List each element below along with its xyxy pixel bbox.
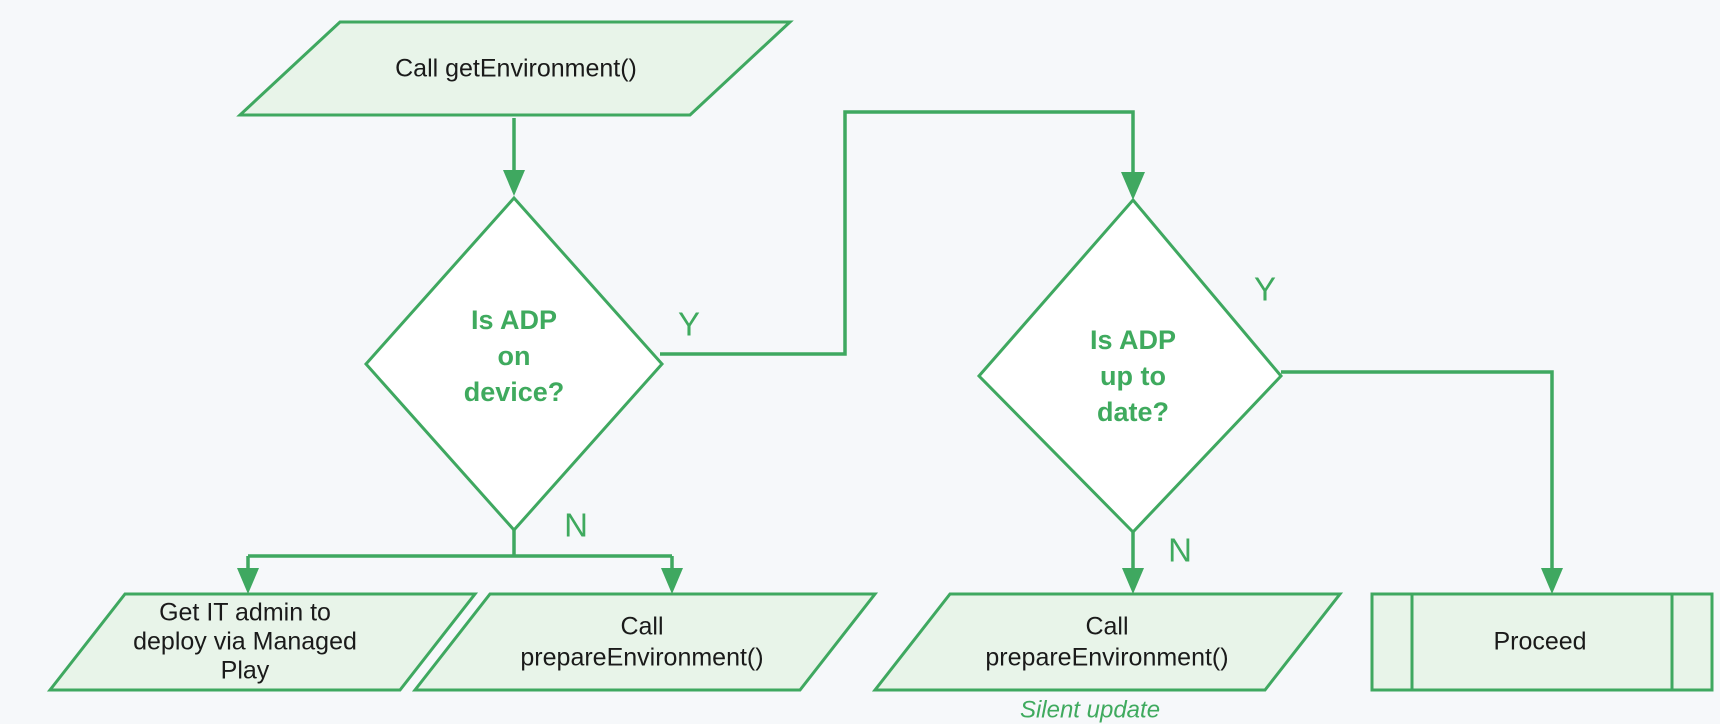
arrowhead-it-admin [237,568,259,594]
prepare-left-label-line1: Call [620,613,663,641]
branch-label-on-device-yes: Y [678,306,700,343]
silent-update-note: Silent update [1020,696,1160,723]
node-is-adp-on-device[interactable]: Is ADP on device? [366,198,662,530]
node-proceed[interactable]: Proceed [1372,594,1712,690]
edge-up-to-date-yes-to-proceed [1281,372,1552,578]
node-is-adp-up-to-date[interactable]: Is ADP up to date? [979,200,1281,532]
arrowhead-prepare-right [1122,568,1144,594]
arrowhead-proceed [1541,568,1563,594]
decision2-label-line2: up to [1100,361,1166,391]
decision-label-line2: on [498,341,531,371]
branch-label-on-device-no: N [564,507,588,544]
branch-label-up-to-date-no: N [1168,532,1192,569]
decision-label-line1: Is ADP [471,305,557,335]
flowchart-canvas: Call getEnvironment() Is ADP on device? … [0,0,1720,724]
flowchart-svg: Call getEnvironment() Is ADP on device? … [0,0,1720,724]
node-call-prepare-environment-left[interactable]: Call prepareEnvironment() [415,594,875,690]
arrowhead-prepare-left [661,568,683,594]
node-get-it-admin-deploy[interactable]: Get IT admin to deploy via Managed Play [50,594,475,690]
node-call-get-environment[interactable]: Call getEnvironment() [240,22,790,115]
branch-label-up-to-date-yes: Y [1254,271,1276,308]
prepare-left-label-line2: prepareEnvironment() [520,644,763,672]
it-admin-label-line2: deploy via Managed [133,628,357,656]
it-admin-label-line3: Play [221,657,270,685]
node-label-call-get-environment: Call getEnvironment() [395,55,637,83]
node-call-prepare-environment-right[interactable]: Call prepareEnvironment() Silent update [875,594,1340,723]
arrowhead-up-to-date [1121,172,1145,200]
it-admin-label-line1: Get IT admin to [159,599,331,627]
decision2-label-line3: date? [1097,397,1169,427]
prepare-right-label-line1: Call [1085,613,1128,641]
arrowhead-decision-on-device [503,170,525,196]
prepare-right-label-line2: prepareEnvironment() [985,644,1228,672]
node-label-proceed: Proceed [1493,628,1586,656]
decision2-label-line1: Is ADP [1090,325,1176,355]
decision-label-line3: device? [464,377,565,407]
